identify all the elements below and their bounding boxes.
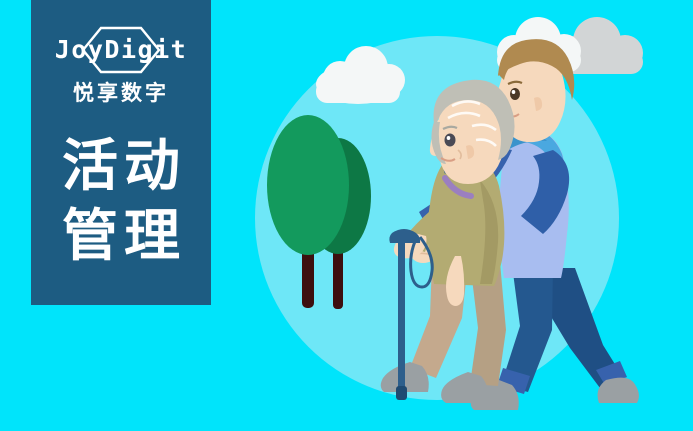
page-title-line-2: 管理 xyxy=(31,202,211,272)
woman-eye xyxy=(445,134,456,147)
page-title: 活动 管理 xyxy=(31,132,211,272)
title-panel: JoyDigit 悦享数字 活动 管理 xyxy=(31,0,211,305)
brand-logo: JoyDigit 悦享数字 xyxy=(31,26,211,106)
man-eye xyxy=(510,88,520,100)
logo-wordmark: JoyDigit xyxy=(31,35,211,65)
logo-mark: JoyDigit xyxy=(31,26,211,74)
poster-canvas: JoyDigit 悦享数字 活动 管理 xyxy=(0,0,693,431)
logo-chinese-name: 悦享数字 xyxy=(31,80,211,106)
cane-shaft xyxy=(398,243,405,395)
page-title-line-1: 活动 xyxy=(31,132,211,202)
cane-tip xyxy=(396,386,407,400)
